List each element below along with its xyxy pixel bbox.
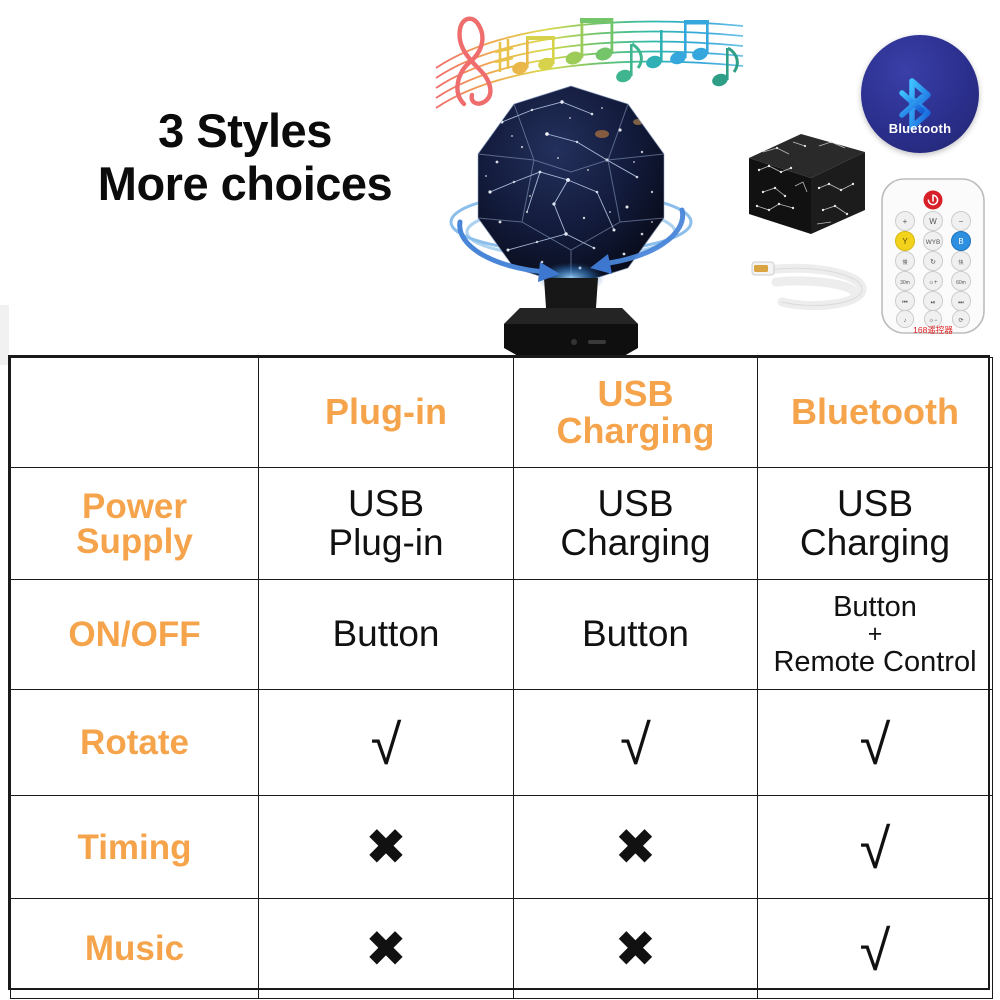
- svg-text:B: B: [958, 237, 963, 246]
- svg-text:♪: ♪: [904, 318, 907, 324]
- cell-timing-plug-in: ✖: [259, 796, 514, 899]
- svg-text:Y: Y: [902, 237, 908, 246]
- cell-power-supply-bluetooth: USB Charging: [758, 468, 993, 580]
- usb-charging-line-1: USB: [518, 376, 753, 413]
- page-title: 3 Styles More choices: [55, 105, 435, 210]
- table-row-on-off: ON/OFF Button Button Button + Remote Con…: [11, 580, 993, 690]
- svg-text:WYB: WYB: [926, 239, 941, 246]
- svg-text:☼+: ☼+: [928, 280, 937, 286]
- check-icon: √: [620, 717, 651, 773]
- svg-text:慢: 慢: [902, 258, 908, 266]
- cell-power-supply-plug-in: USB Plug-in: [259, 468, 514, 580]
- row-header-on-off: ON/OFF: [11, 580, 259, 690]
- column-header-bluetooth: Bluetooth: [758, 358, 993, 468]
- svg-text:⟳: ⟳: [958, 318, 963, 324]
- check-icon: √: [860, 717, 891, 773]
- star-projector-lamp: [442, 72, 700, 357]
- bluetooth-badge-label: Bluetooth: [861, 121, 979, 136]
- cell-music-usb-charging: ✖: [514, 899, 758, 999]
- hero-section: 3 Styles More choices: [0, 0, 1000, 355]
- cell-rotate-plug-in: √: [259, 690, 514, 796]
- cell-music-plug-in: ✖: [259, 899, 514, 999]
- table-header-row: Plug-in USB Charging Bluetooth: [11, 358, 993, 468]
- bluetooth-badge: Bluetooth: [861, 35, 979, 153]
- comparison-table: Plug-in USB Charging Bluetooth: [8, 355, 990, 990]
- table-row-timing: Timing ✖ ✖ √: [11, 796, 993, 899]
- svg-text:+: +: [903, 217, 908, 226]
- table-row-music: Music ✖ ✖ √: [11, 899, 993, 999]
- cell-on-off-bluetooth: Button + Remote Control: [758, 580, 993, 690]
- svg-text:−: −: [959, 217, 964, 226]
- cell-music-bluetooth: √: [758, 899, 993, 999]
- usb-cable: [742, 248, 882, 320]
- svg-text:60m: 60m: [956, 280, 966, 286]
- table-row-rotate: Rotate √ √ √: [11, 690, 993, 796]
- header-cell-empty: [11, 358, 259, 468]
- check-icon: √: [371, 717, 402, 773]
- power-supply-line-2: Supply: [15, 524, 254, 559]
- column-header-usb-charging: USB Charging: [514, 358, 758, 468]
- headline-line-1: 3 Styles: [55, 105, 435, 158]
- row-header-power-supply: Power Supply: [11, 468, 259, 580]
- remote-control: + W − Y WYB B 慢 ↻ 快 30m ☼+ 60m ⏮ ⏯ ⏭ ♪: [874, 176, 992, 336]
- cross-icon: ✖: [365, 924, 407, 974]
- cell-timing-usb-charging: ✖: [514, 796, 758, 899]
- usb-charging-line-2: Charging: [518, 413, 753, 450]
- svg-text:⏮: ⏮: [902, 300, 908, 306]
- table-row-power-supply: Power Supply USB Plug-in USB Charg: [11, 468, 993, 580]
- svg-text:30m: 30m: [900, 280, 910, 286]
- cell-rotate-bluetooth: √: [758, 690, 993, 796]
- cell-rotate-usb-charging: √: [514, 690, 758, 796]
- cell-on-off-plug-in: Button: [259, 580, 514, 690]
- cell-on-off-usb-charging: Button: [514, 580, 758, 690]
- remote-model-label: 168遥控器: [913, 325, 953, 335]
- constellation-gift-box: [733, 122, 873, 247]
- svg-text:快: 快: [958, 258, 964, 266]
- svg-text:W: W: [929, 217, 937, 226]
- check-icon: √: [860, 923, 891, 979]
- svg-text:⏯: ⏯: [931, 300, 936, 306]
- svg-text:☼−: ☼−: [928, 318, 937, 324]
- column-header-plug-in: Plug-in: [259, 358, 514, 468]
- check-icon: √: [860, 821, 891, 877]
- headline-line-2: More choices: [55, 158, 435, 211]
- row-header-rotate: Rotate: [11, 690, 259, 796]
- cell-timing-bluetooth: √: [758, 796, 993, 899]
- cross-icon: ✖: [365, 822, 407, 872]
- row-header-music: Music: [11, 899, 259, 999]
- cross-icon: ✖: [615, 822, 657, 872]
- infographic-canvas: 3 Styles More choices: [0, 0, 1000, 1000]
- svg-text:⏭: ⏭: [958, 300, 964, 306]
- cross-icon: ✖: [615, 924, 657, 974]
- cell-power-supply-usb-charging: USB Charging: [514, 468, 758, 580]
- row-header-timing: Timing: [11, 796, 259, 899]
- power-supply-line-1: Power: [15, 489, 254, 524]
- svg-text:↻: ↻: [930, 259, 936, 266]
